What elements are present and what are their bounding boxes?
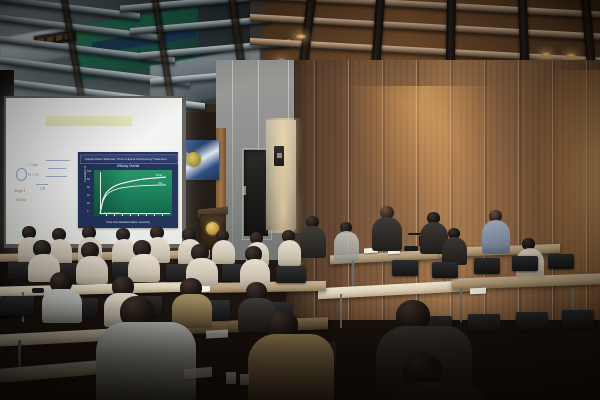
handwriting-note: N = 21 xyxy=(28,172,39,177)
handout[interactable] xyxy=(206,329,228,338)
stacking-chair[interactable] xyxy=(432,262,458,278)
handwriting-note: Stage I xyxy=(14,188,25,193)
chart-y-tick-label: 0 xyxy=(87,210,88,213)
attendee-torso xyxy=(442,237,467,265)
series-line-drug xyxy=(100,177,166,214)
attendee-torso xyxy=(96,322,196,400)
chart-x-tick xyxy=(122,214,123,216)
chart-x-tick xyxy=(138,214,139,216)
chart-legend-ctrl: Ctrl xyxy=(158,181,162,185)
chart-plot-area: Drug Ctrl xyxy=(94,170,172,216)
stacking-chair[interactable] xyxy=(516,312,548,330)
attendee-torso xyxy=(372,217,402,251)
stacking-chair[interactable] xyxy=(392,260,418,276)
wall-seam xyxy=(232,60,233,260)
handout[interactable] xyxy=(470,288,486,295)
handwriting-note: follow xyxy=(16,197,26,202)
chart-y-tick-label: 40 xyxy=(87,194,90,197)
chart-y-tick-label: 80 xyxy=(87,178,90,181)
attendee-torso xyxy=(42,289,82,323)
stacking-chair[interactable] xyxy=(0,296,34,316)
slide-highlight-bar xyxy=(46,116,132,126)
laptop-closed[interactable] xyxy=(404,246,418,251)
laptop-closed[interactable] xyxy=(32,288,44,293)
handwriting-stroke xyxy=(36,184,48,185)
chart-x-tick xyxy=(162,214,163,216)
slide-chart-panel: Kaplan-Meier Estimate: Time to Event Out… xyxy=(78,152,178,228)
chart-titlebar: Kaplan-Meier Estimate: Time to Event Out… xyxy=(80,154,178,164)
sconce-light-glow xyxy=(258,118,308,233)
attendee-torso xyxy=(128,254,160,282)
chart-y-tick-label: 100 xyxy=(87,170,91,173)
attendee-torso xyxy=(212,240,235,264)
handwriting-note: 7 case xyxy=(28,162,38,167)
attendee-torso xyxy=(482,220,510,254)
attendee-torso xyxy=(300,226,326,258)
paper-cup[interactable] xyxy=(240,374,249,385)
stacking-chair[interactable] xyxy=(562,310,594,328)
handwriting-stroke xyxy=(48,168,66,169)
projection-screen: 7 case N = 21 CR Stage I follow Kaplan-M… xyxy=(6,98,182,244)
conference-desk xyxy=(0,359,110,383)
ceiling-downlight-icon xyxy=(541,52,551,57)
chart-y-axis-label: Cumulative % xyxy=(84,166,87,182)
stacking-chair[interactable] xyxy=(276,266,306,283)
attendee-torso xyxy=(76,256,108,284)
handout[interactable] xyxy=(184,367,212,379)
door-handle[interactable] xyxy=(243,186,246,195)
banner-emblem-icon xyxy=(186,152,201,167)
chart-title: Kaplan-Meier Estimate: Time to Event Out… xyxy=(85,158,175,162)
attendee-torso xyxy=(248,334,334,400)
chart-x-tick xyxy=(130,214,131,216)
chart-legend-drug: Drug xyxy=(156,173,162,177)
attendee-torso xyxy=(278,240,301,266)
desk-leg xyxy=(460,288,462,322)
stacking-chair[interactable] xyxy=(468,314,500,332)
handwriting-note: CR xyxy=(40,186,45,191)
handwriting-circle-icon xyxy=(16,168,27,181)
paper-cup[interactable] xyxy=(226,372,236,384)
chart-y-tick-label: 60 xyxy=(87,186,90,189)
chart-y-tick-label: 20 xyxy=(87,202,90,205)
chart-x-tick xyxy=(154,214,155,216)
wall-light-pool xyxy=(350,86,500,236)
sconce-slot-icon xyxy=(277,153,282,158)
stacking-chair[interactable] xyxy=(474,258,500,274)
chart-x-axis-label: Time from Randomization (months) xyxy=(78,220,178,224)
desk-leg xyxy=(340,294,342,328)
ceiling-downlight-icon xyxy=(296,34,306,39)
chart-x-tick xyxy=(146,214,147,216)
ceiling-downlight-icon xyxy=(566,53,576,58)
chart-subtitle: Efficacy Overall xyxy=(78,164,178,168)
chart-annotation: Randomized xyxy=(104,212,119,215)
chart-y-axis xyxy=(100,172,101,214)
seminar-room-photo: 学会 7 case N = 21 CR Stage I follow Kapla… xyxy=(0,0,600,400)
attendee-torso xyxy=(334,231,359,261)
handwriting-stroke xyxy=(46,160,70,161)
handwriting-stroke xyxy=(46,176,67,177)
stacking-chair[interactable] xyxy=(512,256,538,271)
stacking-chair[interactable] xyxy=(548,254,574,269)
lectern-microphone-stand xyxy=(196,200,197,212)
